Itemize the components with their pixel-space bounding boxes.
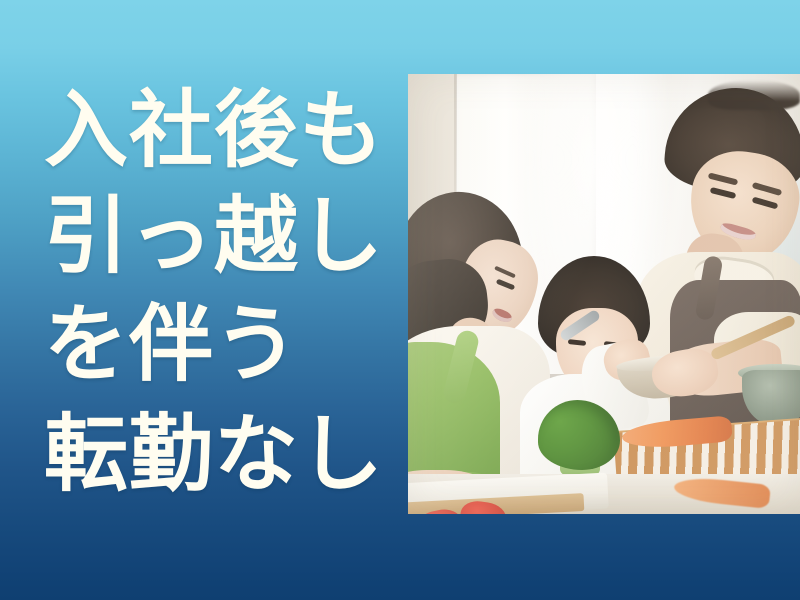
recruitment-banner: 入社後も 引っ越し を伴う 転勤なし (0, 0, 800, 600)
father-hair-highlight (708, 80, 800, 110)
headline-line-4: 転勤なし (44, 412, 384, 496)
headline-line-1: 入社後も (44, 88, 384, 172)
headline-block: 入社後も 引っ越し を伴う 転勤なし (0, 0, 400, 600)
headline-line-3: を伴う (44, 302, 299, 386)
family-cooking-photo (408, 74, 800, 514)
headline-line-2: 引っ越し (44, 194, 384, 278)
